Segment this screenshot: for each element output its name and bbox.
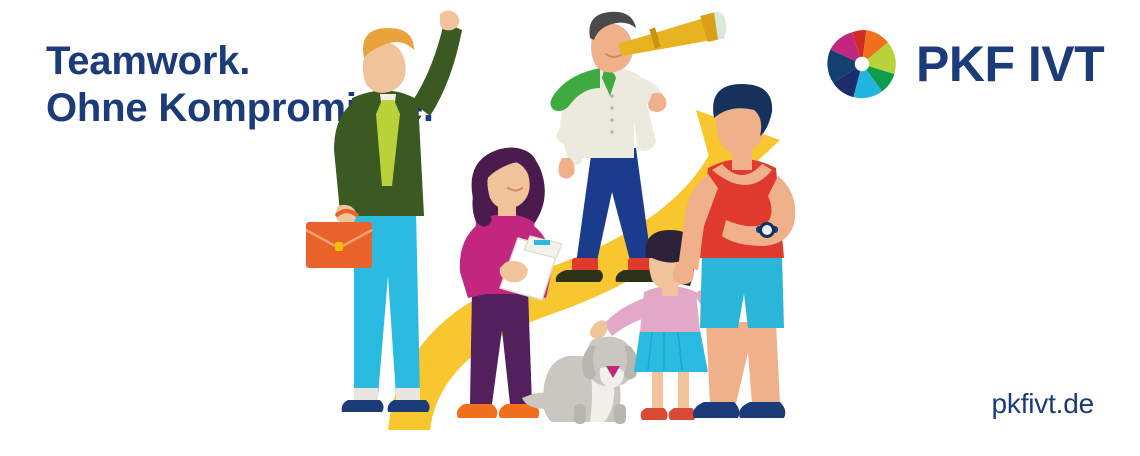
team-illustration bbox=[300, 0, 840, 456]
telescope-icon bbox=[618, 12, 726, 56]
pkf-ivt-banner: Teamwork. Ohne Kompromisse. PK bbox=[0, 0, 1140, 456]
logo-wordmark: PKF IVT bbox=[916, 39, 1104, 89]
pkf-ivt-logo[interactable]: PKF IVT bbox=[826, 28, 1104, 100]
site-url[interactable]: pkfivt.de bbox=[992, 388, 1094, 420]
figure-dog bbox=[522, 337, 638, 424]
